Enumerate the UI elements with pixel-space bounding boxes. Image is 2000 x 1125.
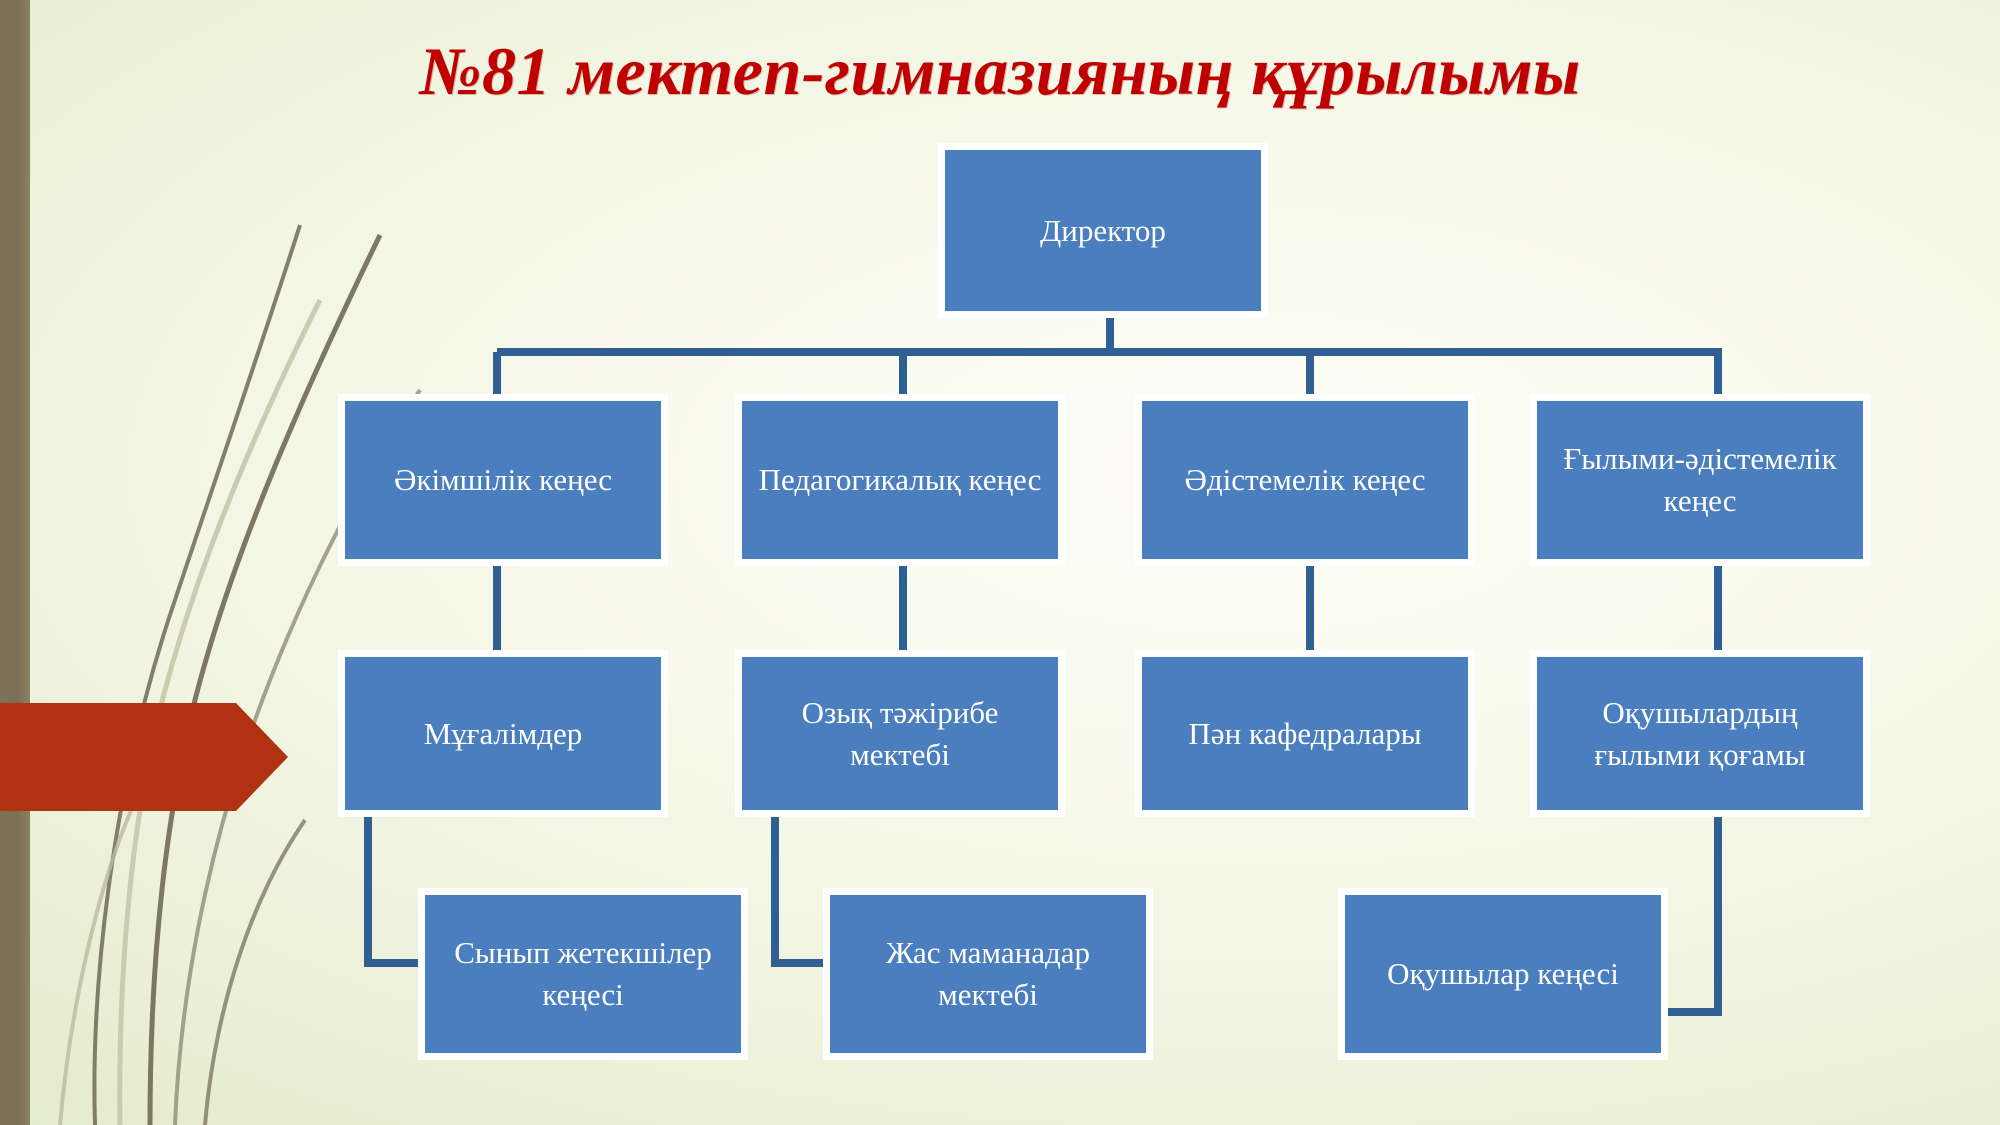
org-node-label: Директор <box>955 210 1251 252</box>
org-node-label: Пән кафедралары <box>1152 713 1458 755</box>
org-node-best-practice-school[interactable]: Озық тәжірибе мектебі <box>735 650 1065 817</box>
org-node-label: Оқушылар кеңесі <box>1355 953 1651 995</box>
org-node-scientific-methodical-council[interactable]: Ғылыми-әдістемелік кеңес <box>1530 394 1870 566</box>
org-node-director[interactable]: Директор <box>938 143 1268 318</box>
org-node-label: Әдістемелік кеңес <box>1152 459 1458 501</box>
org-node-students-council[interactable]: Оқушылар кеңесі <box>1338 888 1668 1060</box>
org-node-pedagogical-council[interactable]: Педагогикалық кеңес <box>735 394 1065 566</box>
org-node-label: Жас маманадар мектебі <box>840 932 1136 1016</box>
org-node-label: Мұғалімдер <box>355 713 651 755</box>
org-node-class-leaders-council[interactable]: Сынып жетекшілер кеңесі <box>418 888 748 1060</box>
left-accent-bar <box>0 0 30 1125</box>
org-node-label: Озық тәжірибе мектебі <box>752 692 1048 776</box>
org-node-subject-departments[interactable]: Пән кафедралары <box>1135 650 1475 817</box>
org-node-admin-council[interactable]: Әкімшілік кеңес <box>338 394 668 566</box>
page-title: №81 мектеп-гимназияның құрылымы <box>0 32 2000 111</box>
slide-canvas: №81 мектеп-гимназияның құрылымы Директор <box>0 0 2000 1125</box>
org-node-methodical-council[interactable]: Әдістемелік кеңес <box>1135 394 1475 566</box>
org-node-label: Сынып жетекшілер кеңесі <box>435 932 731 1016</box>
org-node-teachers[interactable]: Мұғалімдер <box>338 650 668 817</box>
red-chevron-arrow-icon <box>0 697 290 817</box>
org-node-young-specialists-school[interactable]: Жас маманадар мектебі <box>823 888 1153 1060</box>
org-node-label: Педагогикалық кеңес <box>752 459 1048 501</box>
org-node-label: Оқушылардың ғылыми қоғамы <box>1547 692 1853 776</box>
org-node-label: Әкімшілік кеңес <box>355 459 651 501</box>
org-node-students-scientific-society[interactable]: Оқушылардың ғылыми қоғамы <box>1530 650 1870 817</box>
org-node-label: Ғылыми-әдістемелік кеңес <box>1547 438 1853 522</box>
